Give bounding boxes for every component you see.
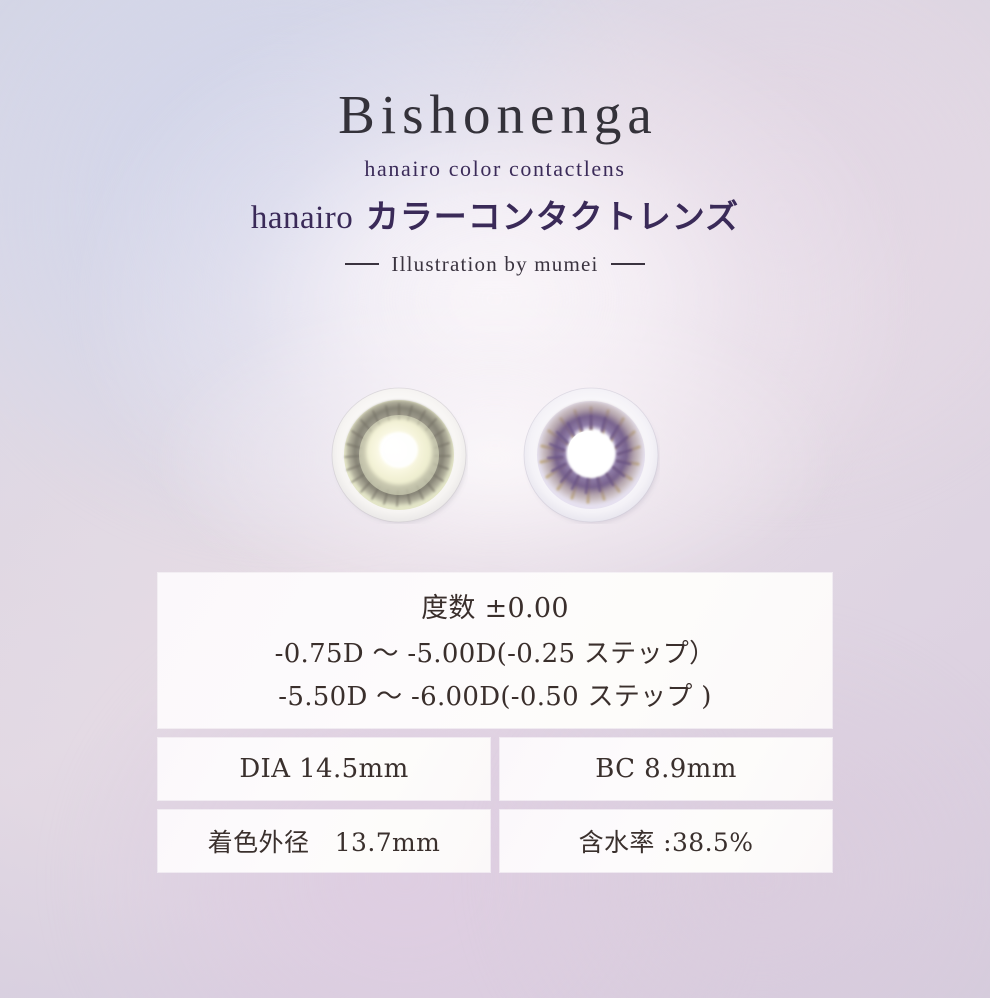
spec-list: 度数 ±0.00 -0.75D ～ -5.00D(-0.25 ステップ） -5.… <box>158 573 832 872</box>
product-poster: Bishonenga hanairo color contactlens han… <box>0 0 990 998</box>
illustration-credit-text: Illustration by mumei <box>391 252 598 276</box>
page-title: Bishonenga <box>0 86 990 144</box>
credit-rule-left-icon <box>345 263 379 265</box>
illustration-credit: Illustration by mumei <box>0 252 990 277</box>
lens-image-violet[interactable] <box>522 386 660 524</box>
spec-dia: DIA 14.5mm <box>158 738 490 800</box>
spec-water-content: 含水率 :38.5% <box>500 810 832 872</box>
spec-power-box: 度数 ±0.00 -0.75D ～ -5.00D(-0.25 ステップ） -5.… <box>158 573 832 728</box>
credit-rule-right-icon <box>611 263 645 265</box>
subtitle-japanese: hanairo カラーコンタクトレンズ <box>0 190 990 238</box>
spec-power-range-2: -5.50D ～ -6.00D(-0.50 ステップ ) <box>278 676 711 713</box>
lens-gallery <box>0 386 990 524</box>
spec-power-label: 度数 ±0.00 <box>421 586 569 625</box>
header: Bishonenga hanairo color contactlens han… <box>0 86 990 277</box>
spec-bc: BC 8.9mm <box>500 738 832 800</box>
lens-image-gray[interactable] <box>330 386 468 524</box>
subtitle-english: hanairo color contactlens <box>0 156 990 182</box>
spec-power-range-1: -0.75D ～ -5.00D(-0.25 ステップ） <box>275 633 716 670</box>
spec-colored-diameter: 着色外径 13.7mm <box>158 810 490 872</box>
subtitle-japanese-roman: hanairo <box>251 200 353 236</box>
spec-grid: DIA 14.5mm BC 8.9mm 着色外径 13.7mm 含水率 :38.… <box>158 738 832 872</box>
subtitle-japanese-kana: カラーコンタクトレンズ <box>366 197 739 236</box>
